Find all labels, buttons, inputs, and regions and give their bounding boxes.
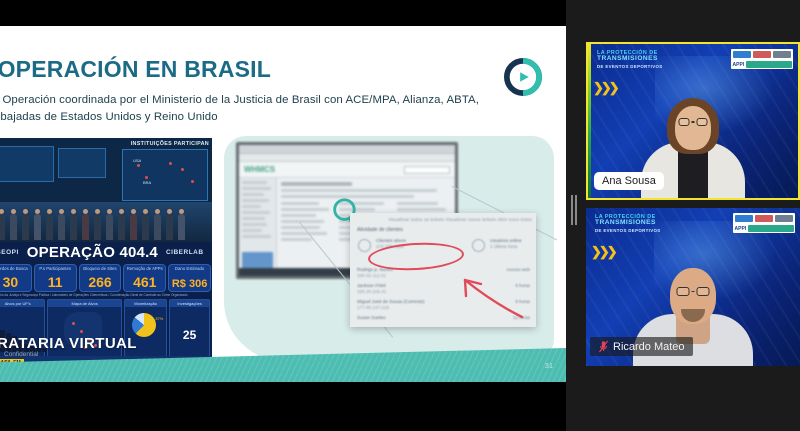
stat-label: Acordos de Busca [0, 266, 31, 271]
stat-card: P.s Participantes 11 [34, 264, 77, 292]
infographic-stats: Acordos de Busca 30 P.s Participantes 11… [0, 264, 212, 292]
stat-value: 461 [124, 274, 165, 290]
panel-value: 25 [170, 328, 209, 342]
sponsor-appi-label: APPI [733, 61, 745, 69]
stat-card: Dano Estimado R$ 306 [168, 264, 211, 292]
chevrons-right-icon: ❯❯❯ [593, 80, 617, 96]
infographic-fine-print: Ministério da Justiça e Segurança Públic… [0, 293, 210, 298]
branding-line-3: DE EVENTOS DEPORTIVOS [595, 228, 661, 234]
chevrons-right-icon: ❯❯❯ [591, 244, 615, 260]
participant-name: Ana Sousa [602, 175, 656, 187]
callout-row-right: Acesso web [506, 267, 530, 272]
zoom-callout-card: Visualizar todos os tickets Visualizar n… [350, 213, 536, 327]
infographic-title: OPERAÇÃO 404.4 [27, 244, 158, 261]
callout-online-label: Usuários online [490, 238, 522, 243]
microphone-muted-icon [598, 340, 609, 353]
stat-card: Bloqueio de Sites 266 [79, 264, 122, 292]
event-branding: LA PROTECCIÓN DE TRANSMISIONES DE EVENTO… [597, 50, 663, 70]
branding-line-2: TRANSMISIONES [597, 56, 663, 62]
slide-page-number: 31 [545, 361, 553, 370]
stat-value: 266 [80, 274, 121, 290]
panel-value: 37% [155, 316, 163, 321]
app-window: 4 OPERACIÓN EN BRASIL de la Operación co… [0, 0, 800, 431]
stat-value: 30 [0, 274, 31, 290]
photo-people-row [0, 202, 212, 242]
callout-heading: Atividade de clientes [357, 227, 403, 233]
branding-line-2: TRANSMISIONES [595, 220, 661, 226]
stat-label: Dano Estimado [169, 266, 210, 271]
infographic-brand-right: CIBERLAB [166, 249, 204, 256]
participant-name: Ricardo Mateo [613, 341, 685, 353]
command-center-photo: USA BRA INSTITUIÇÕES PARTICIPAN [0, 138, 212, 242]
stat-label: P.s Participantes [35, 266, 76, 271]
participant-name-label: Ricardo Mateo [590, 337, 693, 356]
stat-value: 11 [35, 274, 76, 290]
callout-row-sub: 186.20.226.41 [357, 289, 386, 294]
participant-tile-ricardo-mateo[interactable]: LA PROTECCIÓN DE TRANSMISIONES DE EVENTO… [586, 208, 800, 366]
stat-value: R$ 306 [169, 278, 210, 290]
panel-title: Mapa de Alvos [48, 300, 121, 307]
infographic-brand-left: SEOPI [0, 249, 19, 256]
panel-title: Investigações [170, 300, 209, 307]
confidential-label: Confidential [4, 351, 38, 358]
arrow-annotation-icon [456, 275, 526, 321]
participant-name-label: Ana Sousa [594, 172, 664, 190]
photo-caption: INSTITUIÇÕES PARTICIPAN [131, 141, 209, 147]
speaking-level-indicator [588, 44, 591, 198]
callout-online-value: 1 Último hora [490, 244, 517, 249]
participant-tile-ana-sousa[interactable]: LA PROTECCIÓN DE TRANSMISIONES DE EVENTO… [586, 42, 800, 200]
stat-label: Bloqueio de Sites [80, 266, 121, 271]
participants-video-strip: LA PROTECCIÓN DE TRANSMISIONES DE EVENTO… [586, 0, 800, 431]
sponsor-logo-strip: APPI [731, 49, 793, 69]
slide-footer-band [0, 348, 566, 382]
callout-row-sub: 190.02.112.41 [357, 273, 386, 278]
branding-line-3: DE EVENTOS DEPORTIVOS [597, 64, 663, 70]
event-branding: LA PROTECCIÓN DE TRANSMISIONES DE EVENTO… [595, 214, 661, 234]
slide-title: 4 OPERACIÓN EN BRASIL [0, 56, 498, 83]
callout-top-links: Visualizar todos os tickets Visualizar n… [388, 217, 532, 222]
callout-active-label: Clientes ativos [376, 238, 406, 243]
mock-search-field [404, 166, 450, 174]
sponsor-appi-label: APPI [735, 225, 747, 233]
map-label-usa: USA [133, 158, 141, 163]
stat-label: Remoção de APPs [124, 266, 165, 271]
callout-row-name: Suzan Sueleo [357, 315, 386, 320]
presentation-slide: 4 OPERACIÓN EN BRASIL de la Operación co… [0, 26, 566, 382]
callout-row-sub: 177.65.147.219 [357, 305, 389, 310]
sponsor-logo-strip: APPI [733, 213, 795, 233]
drag-handle-icon[interactable] [571, 195, 579, 225]
screen-share-region[interactable]: 4 OPERACIÓN EN BRASIL de la Operación co… [0, 0, 566, 431]
whmcs-logo: WHMCS [244, 165, 275, 174]
play-circle-logo-icon [504, 58, 542, 96]
panel-title: Alvos por UF's [0, 300, 44, 307]
callout-row-name: Miguel José de Sousa (Corrente) [357, 299, 424, 304]
map-label-bra: BRA [143, 180, 151, 185]
callout-row-name: Jackson Fritré [357, 283, 386, 288]
panel-title: Monetização [125, 300, 166, 307]
stat-card: Acordos de Busca 30 [0, 264, 32, 292]
stat-card: Remoção de APPs 461 [123, 264, 166, 292]
slide-subtitle: de la Operación coordinada por el Minist… [0, 92, 534, 125]
